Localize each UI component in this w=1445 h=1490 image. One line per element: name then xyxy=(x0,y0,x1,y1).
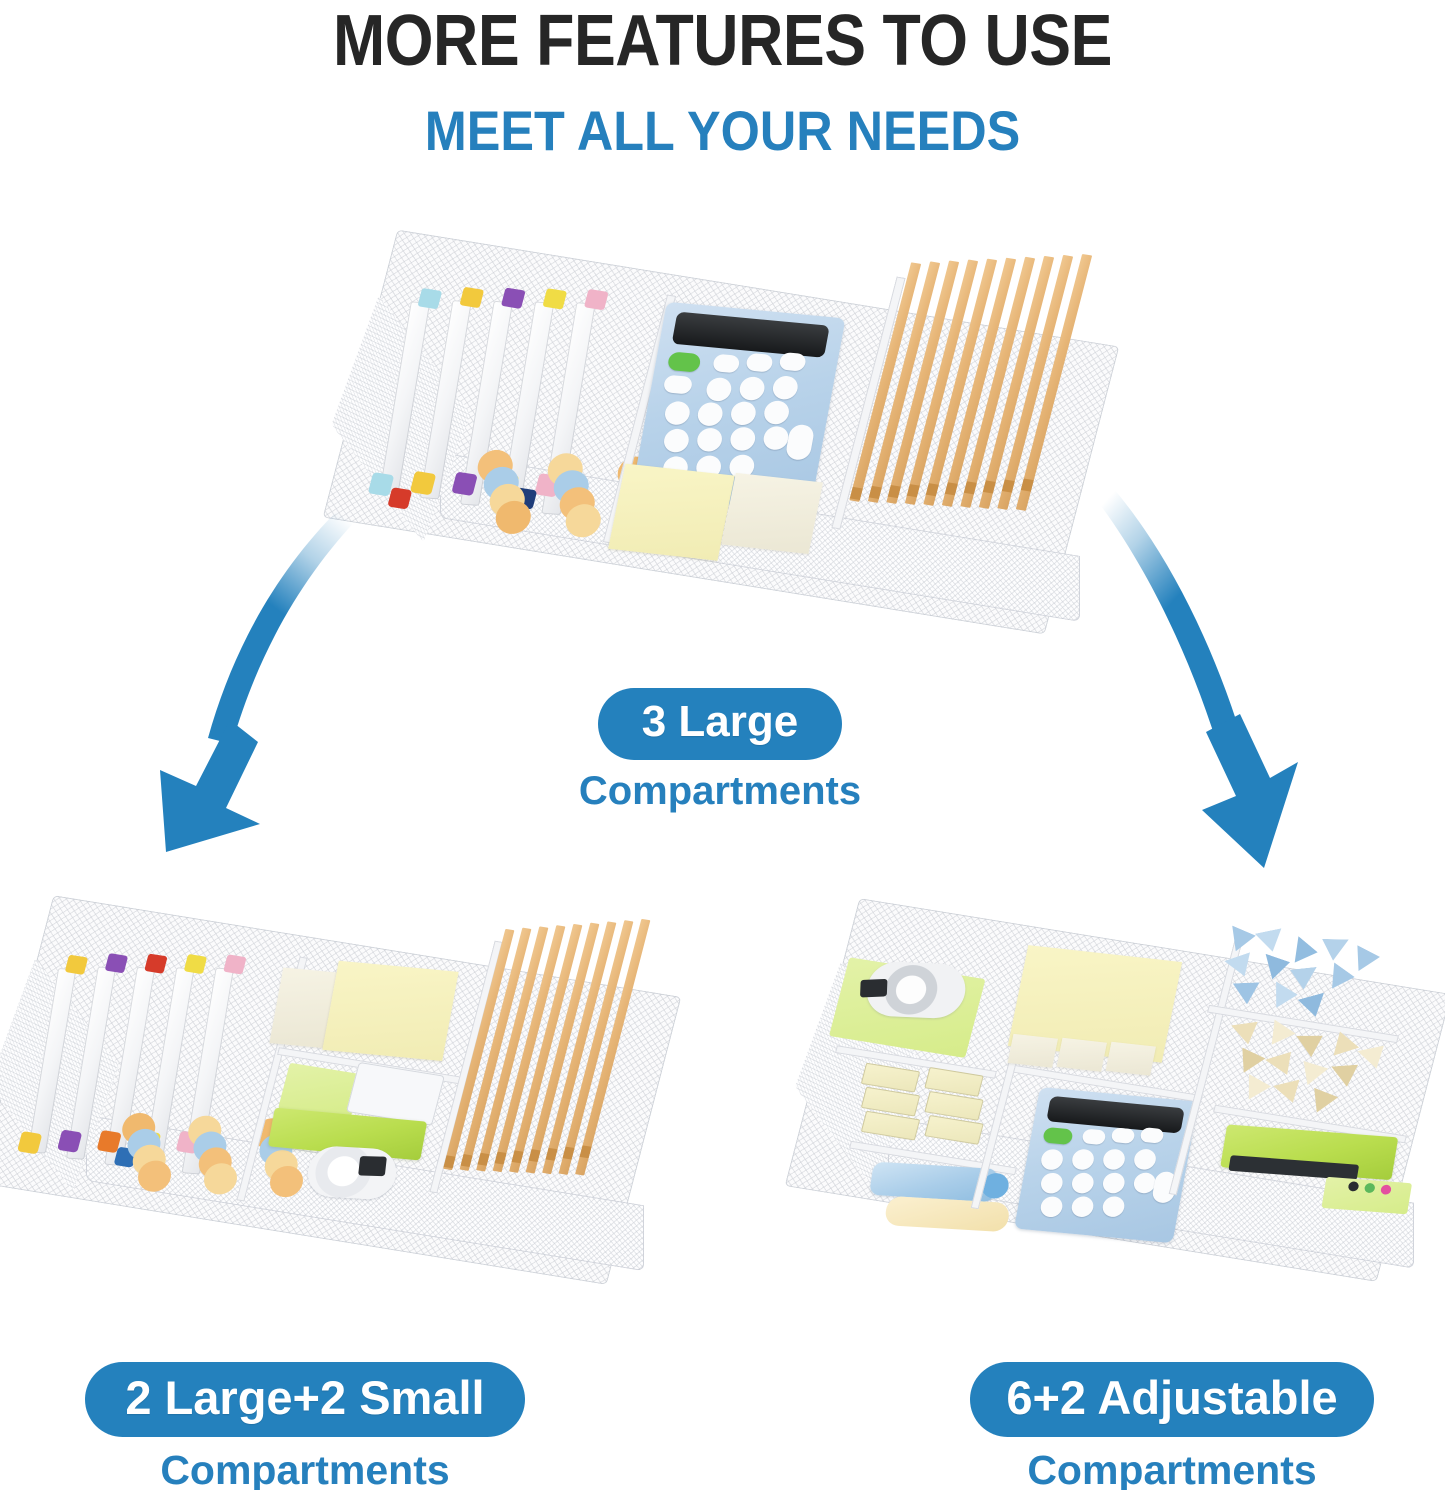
sticky-note-pad xyxy=(322,961,458,1061)
correction-tape xyxy=(304,1145,399,1201)
product-tray-6-plus-2-adjustable xyxy=(816,912,1436,1322)
product-tray-2-large-2-small xyxy=(10,912,670,1322)
badge-caption: Compartments xyxy=(455,769,985,814)
badge-label: 3 Large xyxy=(598,688,843,760)
sticky-note-strips xyxy=(721,473,823,554)
sticky-note-pad xyxy=(608,464,735,561)
calculator xyxy=(1014,1087,1198,1243)
badge-caption: Compartments xyxy=(0,1447,615,1490)
page-subtitle: MEET ALL YOUR NEEDS xyxy=(72,100,1373,162)
badge-3-large: 3 Large Compartments xyxy=(455,688,985,814)
infographic-canvas: MORE FEATURES TO USE MEET ALL YOUR NEEDS xyxy=(0,0,1445,1490)
product-tray-3-large xyxy=(352,252,1112,652)
badge-6-plus-2-adjustable: 6+2 Adjustable Compartments xyxy=(898,1362,1445,1490)
badge-2-large-2-small: 2 Large+2 Small Compartments xyxy=(0,1362,615,1490)
compartment-pencils xyxy=(437,913,688,1215)
badge-caption: Compartments xyxy=(898,1447,1445,1490)
badge-label: 6+2 Adjustable xyxy=(970,1362,1373,1437)
badge-label: 2 Large+2 Small xyxy=(85,1362,524,1437)
compartment-pencils xyxy=(841,246,1126,551)
page-title: MORE FEATURES TO USE xyxy=(94,2,1351,80)
